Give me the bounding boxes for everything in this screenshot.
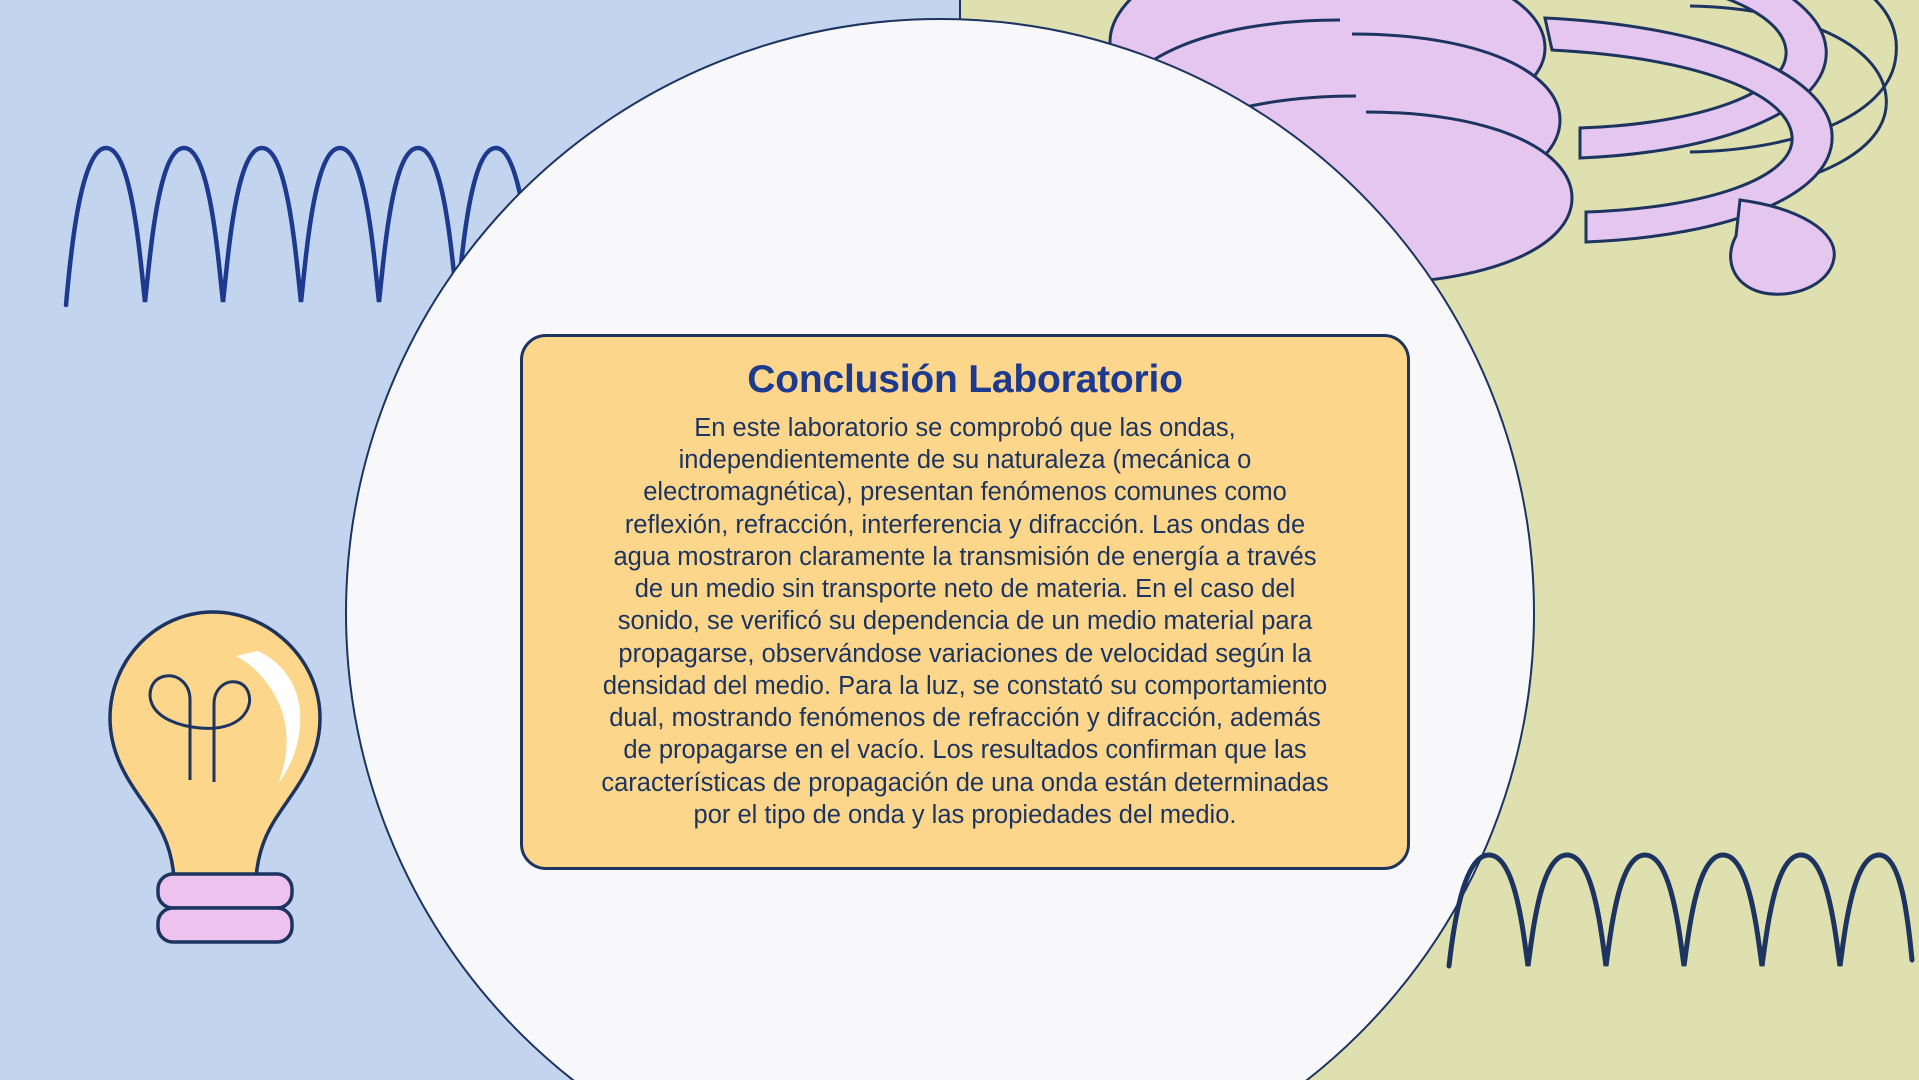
conclusion-card: Conclusión Laboratorio En este laborator… [520, 334, 1410, 870]
card-body-text: En este laboratorio se comprobó que las … [600, 412, 1330, 831]
slide-canvas: Conclusión Laboratorio En este laborator… [0, 0, 1919, 1080]
card-title: Conclusión Laboratorio [747, 359, 1182, 402]
